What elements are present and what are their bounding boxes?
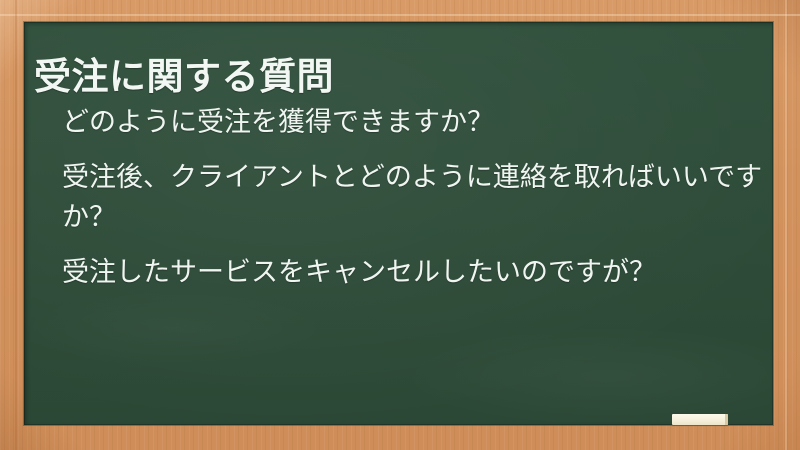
- board-title: 受注に関する質問: [34, 53, 334, 101]
- frame-bevel-right: [785, 0, 787, 450]
- question-list: どのように受注を獲得できますか？ 受注後、クライアントとどのように連絡を取ればい…: [62, 102, 768, 292]
- question-item-1: どのように受注を獲得できますか？: [62, 102, 768, 142]
- question-item-2: 受注後、クライアントとどのように連絡を取ればいいですか？: [62, 157, 768, 237]
- chalk-stick: [672, 414, 728, 425]
- chalkboard-surface: 受注に関する質問 どのように受注を獲得できますか？ 受注後、クライアントとどのよ…: [24, 22, 773, 425]
- blackboard-frame: 受注に関する質問 どのように受注を獲得できますか？ 受注後、クライアントとどのよ…: [0, 0, 800, 450]
- frame-bevel-top: [0, 14, 800, 16]
- question-item-3: 受注したサービスをキャンセルしたいのですが？: [62, 252, 768, 292]
- chalk-stick-tip: [725, 414, 728, 425]
- frame-bevel-left: [15, 0, 17, 450]
- board-content: 受注に関する質問 どのように受注を獲得できますか？ 受注後、クライアントとどのよ…: [24, 22, 773, 425]
